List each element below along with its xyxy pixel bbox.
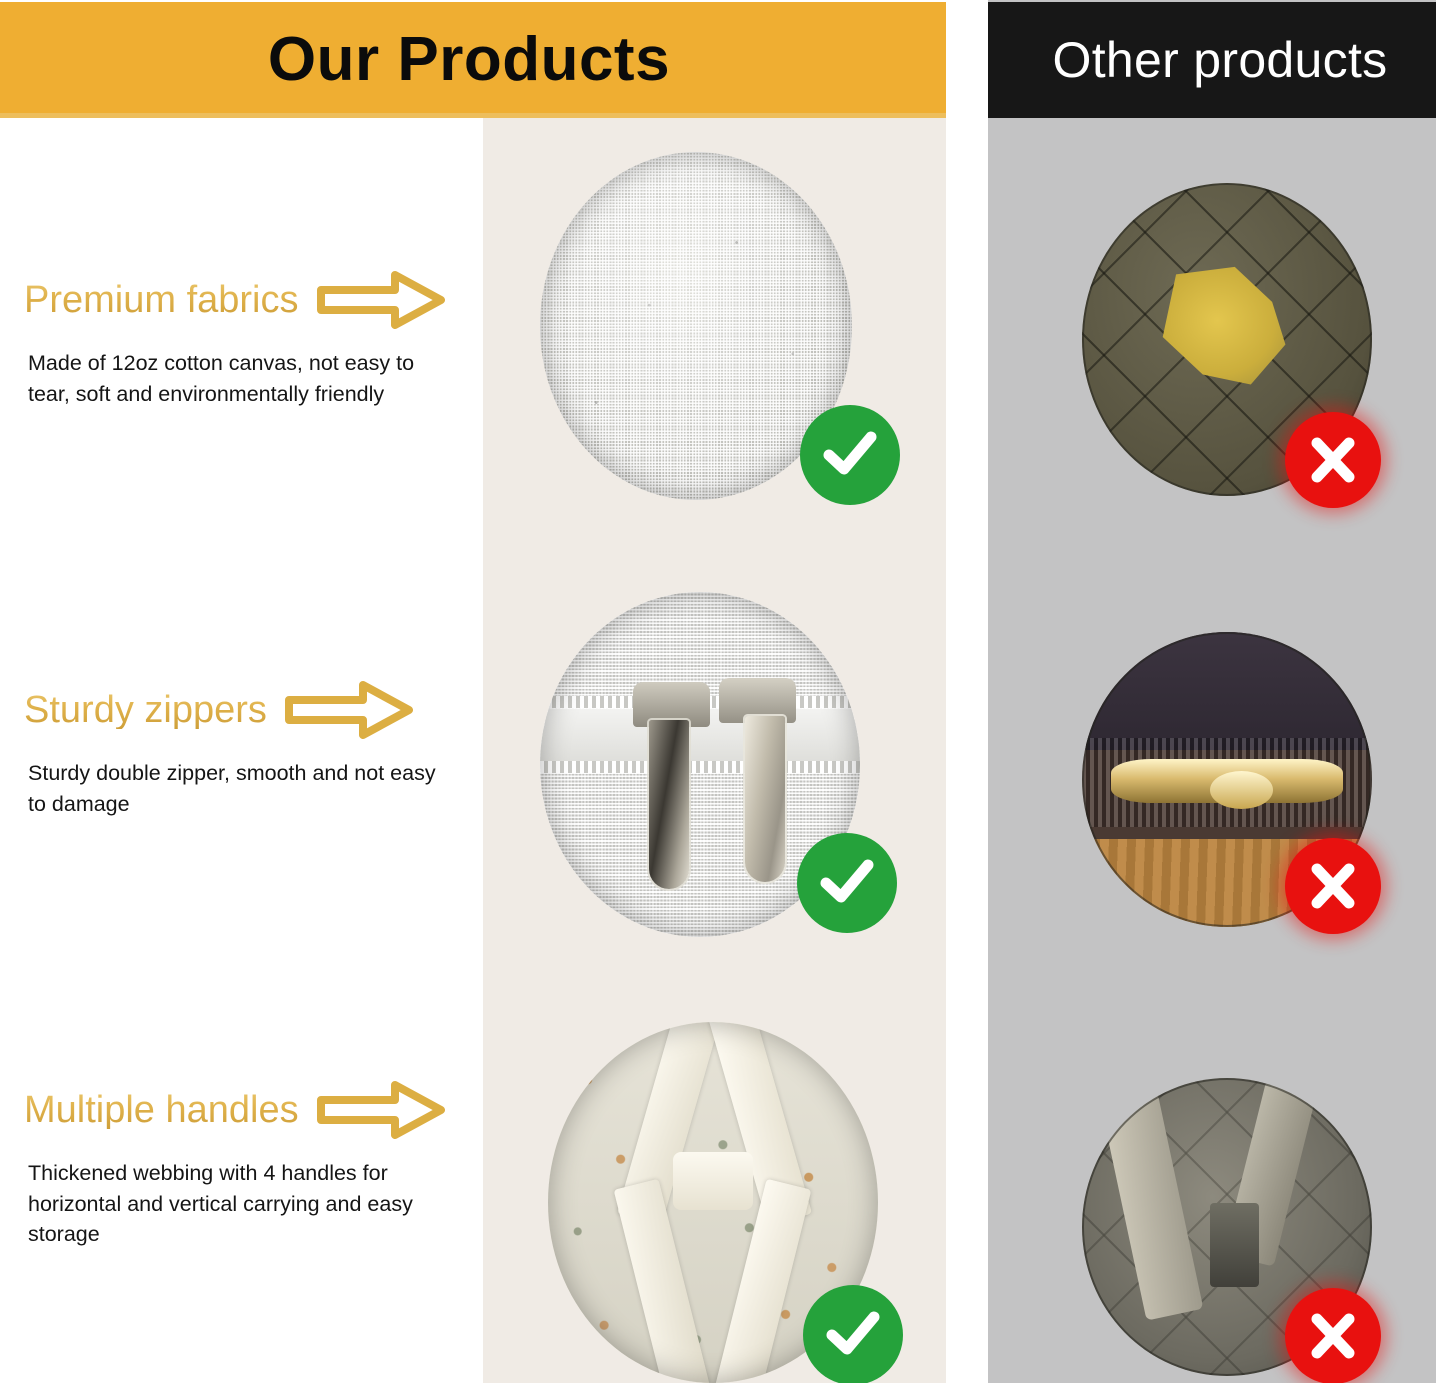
check-icon: [803, 1285, 903, 1383]
our-products-header: Our Products: [0, 2, 946, 118]
arrow-right-icon: [317, 1080, 445, 1140]
other-products-panel: Other products: [988, 0, 1436, 1383]
feature-sturdy-zippers: Sturdy zippers Sturdy double zipper, smo…: [0, 682, 483, 819]
our-products-title: Our Products: [268, 29, 670, 91]
feature-3-title: Multiple handles: [24, 1091, 299, 1129]
feature-1-heading-row: Premium fabrics: [0, 272, 483, 328]
check-icon: [800, 405, 900, 505]
feature-3-description: Thickened webbing with 4 handles for hor…: [0, 1158, 483, 1250]
our-products-panel: Our Products Premium fabrics Made of 12o…: [0, 0, 946, 1383]
arrow-right-icon: [285, 680, 413, 740]
feature-2-title: Sturdy zippers: [24, 691, 267, 729]
other-products-title: Other products: [1053, 35, 1388, 85]
feature-3-heading-row: Multiple handles: [0, 1082, 483, 1138]
cross-icon: [1285, 838, 1381, 934]
feature-1-title: Premium fabrics: [24, 281, 299, 319]
feature-2-heading-row: Sturdy zippers: [0, 682, 483, 738]
check-icon: [797, 833, 897, 933]
feature-2-description: Sturdy double zipper, smooth and not eas…: [0, 758, 483, 819]
product-comparison-infographic: Our Products Premium fabrics Made of 12o…: [0, 0, 1436, 1383]
arrow-right-icon: [317, 270, 445, 330]
feature-multiple-handles: Multiple handles Thickened webbing with …: [0, 1082, 483, 1250]
feature-premium-fabrics: Premium fabrics Made of 12oz cotton canv…: [0, 272, 483, 409]
cross-icon: [1285, 412, 1381, 508]
other-products-header: Other products: [988, 2, 1436, 118]
feature-1-description: Made of 12oz cotton canvas, not easy to …: [0, 348, 483, 409]
cross-icon: [1285, 1288, 1381, 1383]
